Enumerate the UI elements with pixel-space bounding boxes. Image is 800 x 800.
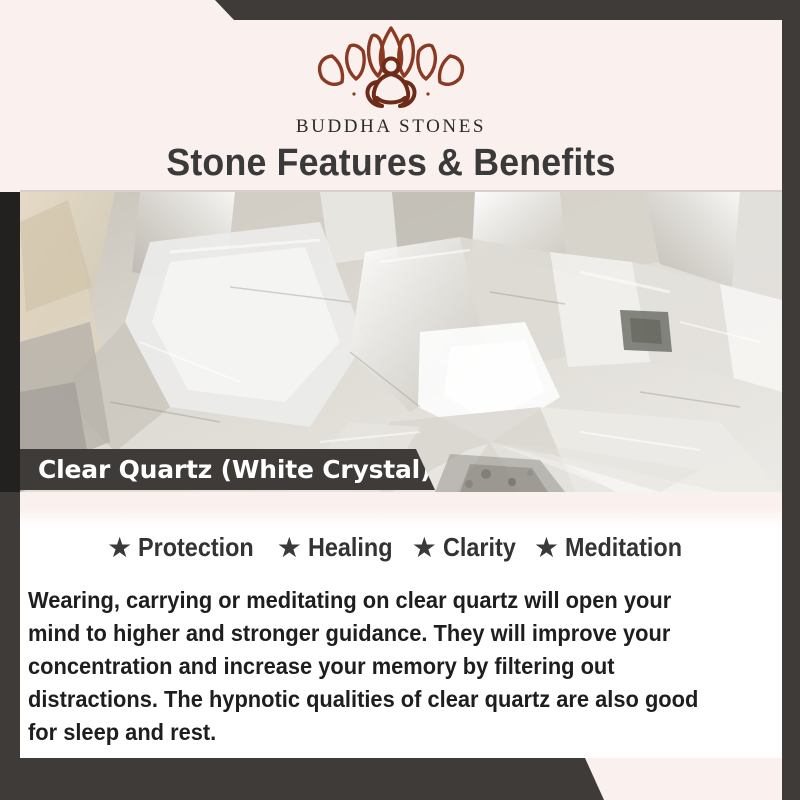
benefit-item-protection: ★ Protection: [107, 532, 267, 563]
benefit-label: Clarity: [443, 532, 516, 563]
photo-caption-banner: Clear Quartz (White Crystal): [20, 449, 435, 490]
page-title: Stone Features & Benefits: [166, 142, 615, 185]
lotus-meditation-icon: [306, 22, 476, 114]
frame-bottom-bar: [0, 758, 800, 800]
benefit-label: Healing: [308, 532, 393, 563]
brand-logo: BUDDHA STONES: [0, 22, 782, 138]
star-icon: ★: [107, 534, 132, 562]
star-icon: ★: [534, 534, 559, 562]
photo-caption-text: Clear Quartz (White Crystal): [20, 455, 431, 484]
benefit-label: Meditation: [565, 532, 682, 563]
star-icon: ★: [277, 534, 302, 562]
frame-right-bar: [782, 0, 800, 800]
star-icon: ★: [412, 534, 437, 562]
benefit-item-clarity: ★ Clarity: [412, 532, 524, 563]
benefit-label: Protection: [138, 532, 254, 563]
benefit-item-healing: ★ Healing: [277, 532, 402, 563]
page-title-strip: Stone Features & Benefits: [0, 142, 782, 185]
frame-left-upper-bar: [0, 192, 20, 492]
infographic-card: BUDDHA STONES Stone Features & Benefits …: [0, 0, 800, 800]
card-header: BUDDHA STONES Stone Features & Benefits: [0, 20, 782, 192]
benefits-row: ★ Protection ★ Healing ★ Clarity ★ Medit…: [20, 532, 782, 563]
content-section: ★ Protection ★ Healing ★ Clarity ★ Medit…: [20, 492, 782, 758]
header-divider: [20, 190, 782, 192]
frame-top-bar: [0, 0, 800, 20]
benefit-item-meditation: ★ Meditation: [534, 532, 695, 563]
brand-name: BUDDHA STONES: [296, 116, 486, 138]
clear-quartz-crystal-cluster-photo: [20, 192, 782, 492]
description-text: Wearing, carrying or meditating on clear…: [28, 584, 727, 749]
